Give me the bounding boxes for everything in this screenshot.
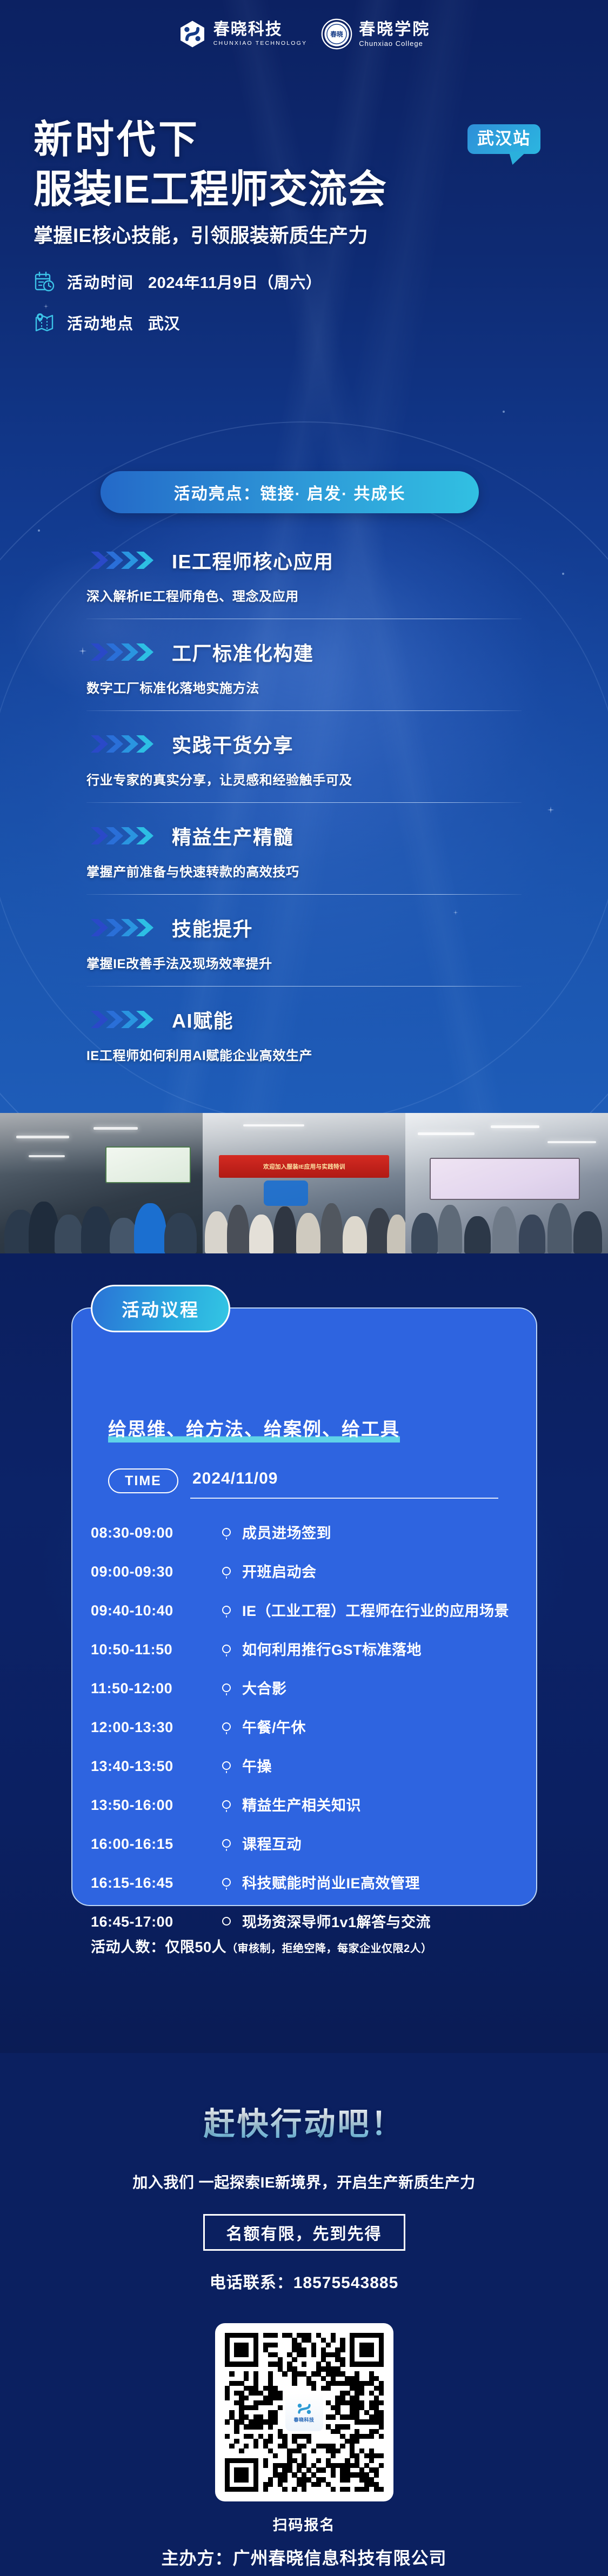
- agenda-row-text: 现场资深导师1v1解答与交流: [242, 1913, 431, 1933]
- agenda-row-time: 11:50-12:00: [91, 1679, 211, 1697]
- logo-bar: 春晓科技 CHUNXIAO TECHNOLOGY 春晓 春晓学院 Chunxia…: [0, 18, 608, 50]
- event-photo-strip: 欢迎加入服装IE应用与实践特训: [0, 1113, 608, 1253]
- timeline-dot-icon: [222, 1839, 231, 1848]
- photo-classroom-audience: [0, 1113, 203, 1253]
- contact-phone[interactable]: 电话联系：18575543885: [0, 2269, 608, 2293]
- logo2-cn-text: 春晓学院: [359, 22, 430, 38]
- timeline-dashed-line: [226, 1654, 227, 1656]
- meta-row-time: 活动时间 2024年11月9日（周六）: [34, 270, 574, 293]
- agenda-row-text: 课程互动: [242, 1835, 302, 1855]
- chevron-arrows-icon: [91, 642, 162, 662]
- highlight-item: 工厂标准化构建 数字工厂标准化落地实施方法: [0, 632, 608, 711]
- registration-qr-code[interactable]: 春晓科技: [215, 2323, 393, 2501]
- timeline-dashed-line: [226, 1577, 227, 1579]
- timeline-dot-icon: [222, 1683, 231, 1692]
- agenda-row-time: 09:00-09:30: [91, 1562, 211, 1580]
- meta-label-time: 活动时间: [67, 270, 134, 293]
- logo1-cn-text: 春晓科技: [213, 22, 307, 38]
- highlight-title: IE工程师核心应用: [172, 546, 334, 574]
- city-badge-tail: [507, 152, 526, 165]
- meta-value-time: 2024年11月9日（周六）: [148, 270, 322, 293]
- timeline-dot-icon: [222, 1606, 231, 1614]
- agenda-row-text: 大合影: [242, 1679, 287, 1699]
- agenda-date: 2024/11/09: [192, 1470, 278, 1488]
- divider: [86, 802, 522, 803]
- cta-section: 赶快行动吧！ 加入我们 一起探索IE新境界，开启生产新质生产力 名额有限，先到先…: [0, 2053, 608, 2576]
- timeline-dot-icon: [222, 1917, 231, 1926]
- qr-logo-text: 春晓科技: [293, 2416, 314, 2423]
- agenda-row: 16:15-16:45 科技赋能时尚业IE高效管理: [91, 1874, 523, 1903]
- agenda-row-text: 精益生产相关知识: [242, 1796, 361, 1816]
- meta-label-location: 活动地点: [67, 311, 134, 334]
- timeline-dashed-line: [226, 1810, 227, 1812]
- divider: [86, 894, 522, 895]
- highlights-list: IE工程师核心应用 深入解析IE工程师角色、理念及应用 工厂标准化构建 数字工厂…: [0, 540, 608, 1064]
- highlight-desc: 掌握产前准备与快速转款的高效技巧: [0, 861, 608, 880]
- logo-chunxiao-college: 春晓 春晓学院 Chunxiao College: [321, 18, 430, 50]
- agenda-row-text: 开班启动会: [242, 1562, 317, 1582]
- timeline-dashed-line: [226, 1693, 227, 1695]
- timeline-dashed-line: [226, 1732, 227, 1734]
- highlight-desc: 行业专家的真实分享，让灵感和经验触手可及: [0, 769, 608, 788]
- highlight-item: 实践干货分享 行业专家的真实分享，让灵感和经验触手可及: [0, 724, 608, 803]
- chevron-arrows-icon: [91, 734, 162, 754]
- logo-chunxiao-technology: 春晓科技 CHUNXIAO TECHNOLOGY: [178, 19, 307, 49]
- chevron-arrows-icon: [91, 826, 162, 846]
- calendar-clock-icon: [34, 271, 55, 292]
- chevron-arrows-icon: [91, 551, 162, 570]
- timeline-dashed-line: [226, 1771, 227, 1773]
- particle-dot: [503, 411, 505, 413]
- timeline-dashed-line: [226, 1849, 227, 1851]
- agenda-row-text: 成员进场签到: [242, 1524, 331, 1544]
- highlight-item: 精益生产精髓 掌握产前准备与快速转款的高效技巧: [0, 816, 608, 895]
- agenda-schedule-list: 08:30-09:00 成员进场签到 09:00-09:30 开班启动会 09:…: [91, 1524, 523, 1951]
- agenda-row: 10:50-11:50 如何利用推行GST标准落地: [91, 1640, 523, 1669]
- agenda-row-time: 13:40-13:50: [91, 1757, 211, 1775]
- timeline-dot-icon: [222, 1722, 231, 1731]
- agenda-row: 09:40-10:40 IE（工业工程）工程师在行业的应用场景: [91, 1601, 523, 1631]
- agenda-row-text: 科技赋能时尚业IE高效管理: [242, 1874, 420, 1894]
- agenda-row-text: 如何利用推行GST标准落地: [242, 1640, 422, 1660]
- logo1-en-text: CHUNXIAO TECHNOLOGY: [213, 41, 307, 46]
- highlight-title: 技能提升: [172, 914, 253, 942]
- chunxiao-tech-mark-icon: [295, 2402, 313, 2415]
- highlight-item: 技能提升 掌握IE改善手法及现场效率提升: [0, 908, 608, 987]
- particle-dot: [38, 529, 40, 532]
- hero-subtitle: 掌握IE核心技能，引领服装新质生产力: [34, 220, 574, 248]
- highlight-title: 精益生产精髓: [172, 822, 293, 850]
- divider: [190, 1498, 498, 1499]
- highlight-title: AI赋能: [172, 1005, 233, 1034]
- cta-subtitle: 加入我们 一起探索IE新境界，开启生产新质生产力: [0, 2171, 608, 2192]
- agenda-row-time: 16:45-17:00: [91, 1913, 211, 1930]
- meta-value-location: 武汉: [148, 311, 180, 334]
- qr-caption: 扫码报名: [0, 2513, 608, 2534]
- agenda-row: 08:30-09:00 成员进场签到: [91, 1524, 523, 1553]
- timeline-dot-icon: [222, 1567, 231, 1575]
- agenda-row: 16:00-16:15 课程互动: [91, 1835, 523, 1864]
- logo2-en-text: Chunxiao College: [359, 40, 430, 47]
- limited-seats-badge: 名额有限，先到先得: [203, 2214, 405, 2251]
- timeline-dot-icon: [222, 1645, 231, 1653]
- agenda-row-time: 10:50-11:50: [91, 1640, 211, 1658]
- event-meta-list: 活动时间 2024年11月9日（周六） 活动地点 武汉: [34, 270, 574, 352]
- highlight-item: IE工程师核心应用 深入解析IE工程师角色、理念及应用: [0, 540, 608, 619]
- highlights-banner: 活动亮点：链接· 启发· 共成长: [101, 471, 479, 513]
- highlight-item: AI赋能 IE工程师如何利用AI赋能企业高效生产: [0, 999, 608, 1064]
- highlight-desc: 深入解析IE工程师角色、理念及应用: [0, 586, 608, 605]
- organizer-line: 主办方：广州春晓信息科技有限公司: [0, 2545, 608, 2570]
- highlight-desc: 数字工厂标准化落地实施方法: [0, 677, 608, 696]
- divider: [86, 986, 522, 987]
- quota-main: 活动人数：仅限50人: [91, 1939, 226, 1955]
- timeline-dashed-line: [226, 1615, 227, 1618]
- hero-title-block: 新时代下 服装IE工程师交流会 掌握IE核心技能，引领服装新质生产力 武汉站: [34, 120, 574, 248]
- city-badge-label: 武汉站: [467, 124, 540, 154]
- meta-row-location: 活动地点 武汉: [34, 311, 574, 334]
- divider: [86, 710, 522, 711]
- time-chip-label: TIME: [108, 1468, 178, 1493]
- divider: [86, 619, 522, 619]
- chunxiao-tech-mark-icon: [178, 19, 207, 49]
- map-location-icon: [34, 312, 55, 333]
- agenda-row: 12:00-13:30 午餐/午休: [91, 1718, 523, 1747]
- timeline-dashed-line: [226, 1538, 227, 1540]
- hero-section: 春晓科技 CHUNXIAO TECHNOLOGY 春晓 春晓学院 Chunxia…: [0, 0, 608, 1113]
- agenda-row: 13:50-16:00 精益生产相关知识: [91, 1796, 523, 1825]
- quota-line: 活动人数：仅限50人（审核制，拒绝空降，每家企业仅限2人）: [91, 1935, 432, 1956]
- agenda-row-time: 08:30-09:00: [91, 1524, 211, 1541]
- highlight-title: 工厂标准化构建: [172, 638, 314, 666]
- timeline-dot-icon: [222, 1528, 231, 1537]
- svg-text:春晓: 春晓: [330, 31, 343, 38]
- college-seal-icon: 春晓: [321, 18, 352, 50]
- cta-title: 赶快行动吧！: [0, 2098, 608, 2144]
- highlight-title: 实践干货分享: [172, 730, 293, 758]
- agenda-row-time: 16:15-16:45: [91, 1874, 211, 1891]
- hero-title-line2: 服装IE工程师交流会: [34, 169, 574, 211]
- timeline-dot-icon: [222, 1878, 231, 1887]
- chevron-arrows-icon: [91, 918, 162, 937]
- timeline-dot-icon: [222, 1761, 231, 1770]
- agenda-row-text: IE（工业工程）工程师在行业的应用场景: [242, 1601, 509, 1621]
- qr-center-logo: 春晓科技: [285, 2393, 323, 2431]
- agenda-tab-label: 活动议程: [91, 1285, 230, 1332]
- agenda-section: 活动议程 给思维、给方法、给案例、给工具 TIME 2024/11/09 08:…: [0, 1253, 608, 2053]
- agenda-row: 09:00-09:30 开班启动会: [91, 1562, 523, 1592]
- chevron-arrows-icon: [91, 1010, 162, 1029]
- agenda-row-text: 午餐/午休: [242, 1718, 306, 1738]
- agenda-row-time: 16:00-16:15: [91, 1835, 211, 1853]
- highlight-desc: 掌握IE改善手法及现场效率提升: [0, 953, 608, 972]
- photo-group-photo: 欢迎加入服装IE应用与实践特训: [203, 1113, 405, 1253]
- agenda-row-time: 09:40-10:40: [91, 1601, 211, 1619]
- timeline-dot-icon: [222, 1800, 231, 1809]
- timeline-dashed-line: [226, 1888, 227, 1890]
- agenda-row-text: 午操: [242, 1757, 272, 1777]
- agenda-row-time: 13:50-16:00: [91, 1796, 211, 1814]
- photo-training-room: [405, 1113, 608, 1253]
- agenda-row: 13:40-13:50 午操: [91, 1757, 523, 1786]
- agenda-row-time: 12:00-13:30: [91, 1718, 211, 1736]
- highlight-desc: IE工程师如何利用AI赋能企业高效生产: [0, 1045, 608, 1064]
- quota-note: （审核制，拒绝空降，每家企业仅限2人）: [226, 1943, 432, 1955]
- agenda-slogan: 给思维、给方法、给案例、给工具: [108, 1414, 400, 1443]
- city-badge: 武汉站: [467, 124, 540, 154]
- agenda-row: 11:50-12:00 大合影: [91, 1679, 523, 1708]
